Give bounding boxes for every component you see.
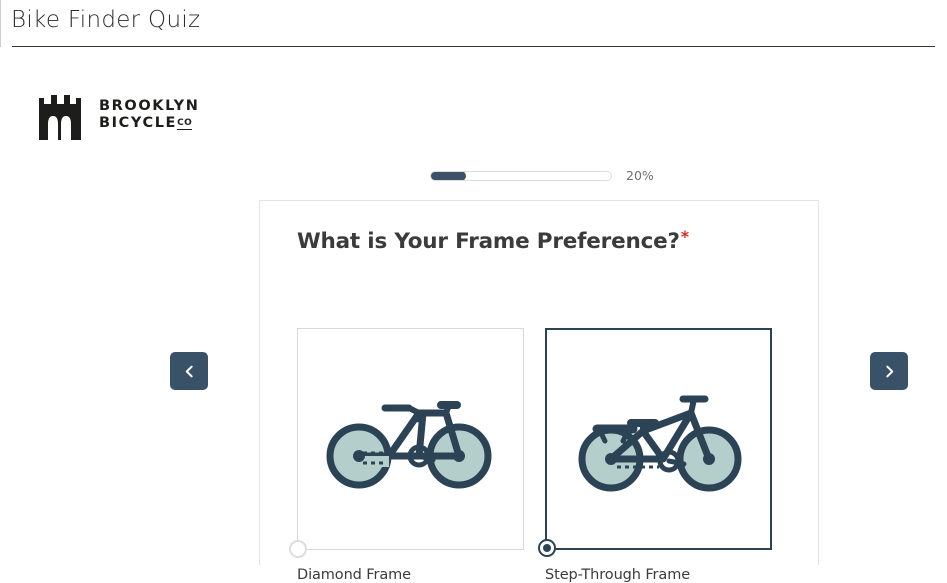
brand-line-2: BICYCLECO [99, 115, 200, 132]
page-title: Bike Finder Quiz [11, 7, 200, 33]
progress-track [430, 171, 612, 181]
question-text: What is Your Frame Preference? [297, 229, 680, 254]
option-diamond-frame-label: Diamond Frame [297, 567, 524, 583]
option-step-through-frame-box[interactable] [545, 328, 772, 550]
quiz-panel: What is Your Frame Preference?* [259, 200, 819, 565]
option-step-through-frame-label: Step-Through Frame [545, 567, 772, 583]
bicycle-diamond-frame-icon [323, 379, 498, 499]
question-heading: What is Your Frame Preference?* [297, 227, 689, 254]
chevron-left-icon [183, 365, 196, 378]
next-question-button[interactable] [870, 352, 908, 390]
progress-fill [430, 171, 466, 181]
brand-line-2-text: BICYCLE [99, 115, 177, 131]
progress-indicator: 20% [430, 168, 654, 183]
chevron-right-icon [883, 365, 896, 378]
radio-dot [543, 544, 551, 552]
window-left-edge [0, 0, 1, 47]
quiz-page: BROOKLYN BICYCLECO 20% What is Your Fram… [0, 47, 947, 565]
window-title-bar: Bike Finder Quiz [0, 0, 947, 46]
option-step-through-frame[interactable]: Step-Through Frame [545, 328, 772, 583]
brand-logo[interactable]: BROOKLYN BICYCLECO [33, 90, 200, 140]
option-step-through-frame-radio[interactable] [538, 539, 556, 557]
brand-suffix: CO [177, 118, 192, 130]
bicycle-step-through-frame-icon [571, 379, 746, 499]
option-list: Diamond Frame [297, 328, 772, 583]
progress-percent-label: 20% [626, 168, 654, 183]
brooklyn-bridge-icon [33, 90, 87, 140]
required-asterisk: * [681, 227, 689, 246]
option-diamond-frame[interactable]: Diamond Frame [297, 328, 524, 583]
prev-question-button[interactable] [170, 352, 208, 390]
brand-wordmark: BROOKLYN BICYCLECO [99, 98, 200, 132]
option-diamond-frame-radio[interactable] [289, 540, 307, 558]
option-diamond-frame-box[interactable] [297, 328, 524, 550]
brand-line-1: BROOKLYN [99, 98, 200, 115]
